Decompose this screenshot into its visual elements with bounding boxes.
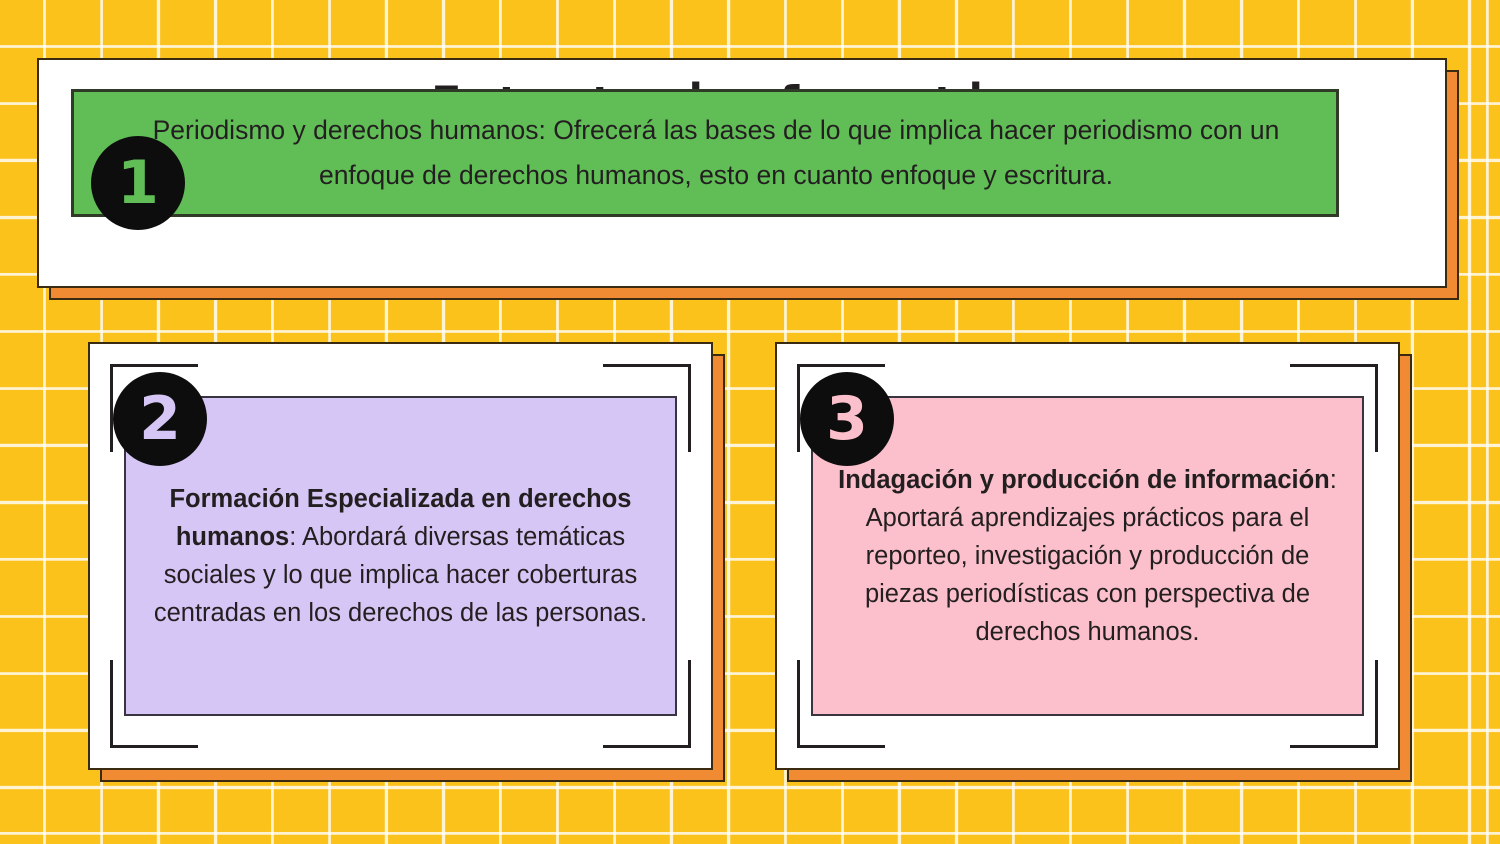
step-3-text: Indagación y producción de información: … (813, 461, 1362, 651)
step-1-panel: Periodismo y derechos humanos: Ofrecerá … (71, 89, 1339, 217)
step-1-number-badge: 1 (91, 136, 185, 230)
slide-canvas: Estrategia formativa Periodismo y derech… (0, 0, 1500, 844)
step-3-number-badge: 3 (800, 372, 894, 466)
step-3-heading: Indagación y producción de información (838, 466, 1330, 494)
step-3-number: 3 (826, 389, 868, 449)
step-2-panel: Formación Especializada en derechos huma… (124, 396, 677, 716)
step-1-number: 1 (117, 153, 159, 213)
step-2-number-badge: 2 (113, 372, 207, 466)
step-2-number: 2 (139, 389, 181, 449)
step-1-text: Periodismo y derechos humanos: Ofrecerá … (112, 108, 1320, 198)
step-2-text: Formación Especializada en derechos huma… (126, 480, 675, 632)
step-3-panel: Indagación y producción de información: … (811, 396, 1364, 716)
